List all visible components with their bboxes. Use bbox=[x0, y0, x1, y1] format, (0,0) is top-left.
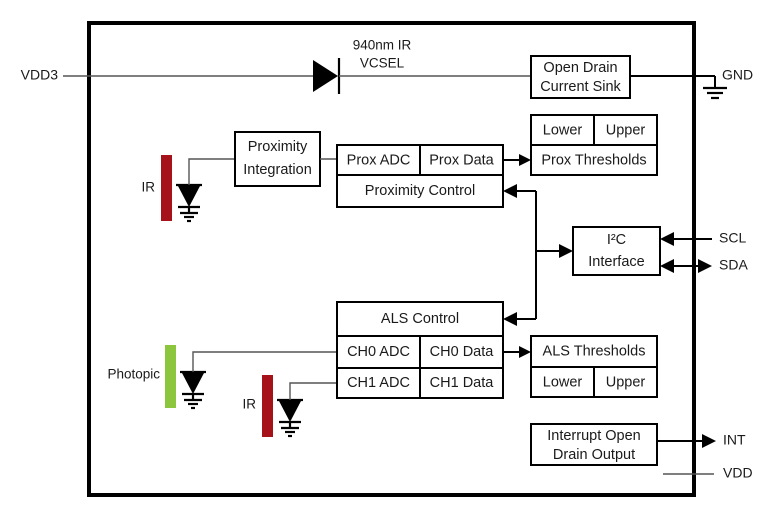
block-open-drain-current-sink[interactable]: Open Drain Current Sink bbox=[531, 56, 630, 98]
proximity-integration-line1: Proximity bbox=[248, 139, 308, 155]
sensor-label-photopic: Photopic bbox=[107, 367, 160, 382]
photodiode-symbol-als-ir bbox=[277, 383, 337, 436]
prox-threshold-upper-label: Upper bbox=[606, 122, 646, 138]
block-als-core[interactable]: ALS Control CH0 ADC CH0 Data CH1 ADC CH1… bbox=[337, 302, 503, 398]
block-diagram-canvas: VDD3 940nm IR VCSEL Open Drain Current S… bbox=[0, 0, 780, 516]
vcsel-diode-symbol bbox=[313, 58, 531, 94]
interrupt-open-drain-line2: Drain Output bbox=[553, 447, 635, 463]
open-drain-current-sink-line2: Current Sink bbox=[540, 79, 621, 95]
open-drain-current-sink-line1: Open Drain bbox=[543, 60, 617, 76]
int-net: INT bbox=[657, 432, 746, 448]
vcsel-label-line2: VCSEL bbox=[360, 56, 405, 71]
block-interrupt-open-drain-output[interactable]: Interrupt Open Drain Output bbox=[531, 424, 657, 465]
proximity-integration-line2: Integration bbox=[243, 162, 312, 178]
i2c-interface-line1: I²C bbox=[607, 232, 626, 248]
vdd-net: VDD bbox=[663, 465, 753, 481]
vdd3-net: VDD3 bbox=[21, 67, 315, 83]
als-threshold-lower-label: Lower bbox=[543, 374, 583, 390]
photodiode-symbol-photopic bbox=[180, 352, 337, 408]
ch0-data-label: CH0 Data bbox=[430, 344, 495, 360]
ir-filter-bar-als bbox=[262, 375, 273, 437]
ch0-adc-label: CH0 ADC bbox=[347, 344, 410, 360]
als-control-label: ALS Control bbox=[381, 311, 459, 327]
proximity-control-label: Proximity Control bbox=[365, 183, 475, 199]
arrow-ch0-data-to-als-thresholds bbox=[503, 346, 531, 358]
block-i2c-interface[interactable]: I²C Interface bbox=[573, 227, 660, 275]
block-proximity-integration[interactable]: Proximity Integration bbox=[235, 132, 337, 186]
sda-net: SDA bbox=[660, 257, 748, 273]
i2c-control-bus bbox=[503, 184, 573, 326]
pin-label-vdd3: VDD3 bbox=[21, 67, 59, 83]
sensor-label-ir-als: IR bbox=[243, 397, 257, 412]
block-diagram-page: VDD3 940nm IR VCSEL Open Drain Current S… bbox=[0, 0, 780, 516]
als-thresholds-label: ALS Thresholds bbox=[543, 343, 646, 359]
prox-adc-label: Prox ADC bbox=[347, 152, 411, 168]
i2c-interface-line2: Interface bbox=[588, 254, 644, 270]
ch1-adc-label: CH1 ADC bbox=[347, 375, 410, 391]
photopic-filter-bar bbox=[165, 345, 176, 408]
block-als-thresholds[interactable]: ALS Thresholds Lower Upper bbox=[531, 336, 657, 397]
block-prox-thresholds[interactable]: Lower Upper Prox Thresholds bbox=[531, 115, 657, 175]
pin-label-sda: SDA bbox=[719, 257, 748, 273]
als-threshold-upper-label: Upper bbox=[606, 374, 646, 390]
interrupt-open-drain-line1: Interrupt Open bbox=[547, 428, 641, 444]
pin-label-int: INT bbox=[723, 432, 746, 448]
arrow-prox-data-to-thresholds bbox=[503, 154, 531, 166]
scl-net: SCL bbox=[660, 230, 746, 246]
photodiode-symbol-proximity bbox=[176, 159, 235, 221]
prox-data-label: Prox Data bbox=[429, 152, 494, 168]
sensor-label-ir-proximity: IR bbox=[142, 180, 156, 195]
ir-filter-bar-proximity bbox=[161, 155, 172, 221]
prox-threshold-lower-label: Lower bbox=[543, 122, 583, 138]
ch1-data-label: CH1 Data bbox=[430, 375, 495, 391]
vcsel-label-line1: 940nm IR bbox=[353, 38, 412, 53]
pin-label-vdd: VDD bbox=[723, 465, 753, 481]
pin-label-gnd: GND bbox=[722, 67, 753, 83]
pin-label-scl: SCL bbox=[719, 230, 746, 246]
block-proximity-core[interactable]: Prox ADC Prox Data Proximity Control bbox=[337, 145, 503, 207]
prox-thresholds-label: Prox Thresholds bbox=[541, 152, 646, 168]
gnd-net: GND bbox=[630, 67, 753, 98]
